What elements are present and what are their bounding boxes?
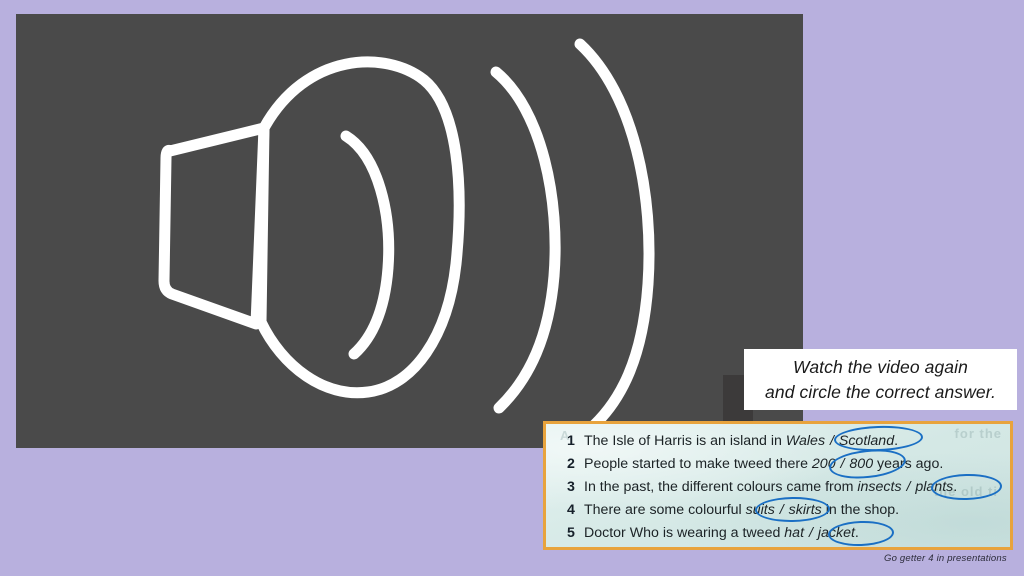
- question-after: in the shop.: [822, 502, 899, 518]
- question-before: The Isle of Harris is an island in: [584, 433, 786, 449]
- question-after: .: [953, 479, 957, 495]
- question-text: There are some colourful suits / skirts …: [584, 502, 899, 518]
- option-b[interactable]: jacket: [818, 525, 855, 541]
- question-after: years ago.: [873, 456, 943, 472]
- option-separator: /: [825, 433, 839, 449]
- worksheet-image: for the the old ti A 1 The Isle of Harri…: [543, 421, 1013, 550]
- question-number: 1: [567, 433, 584, 449]
- option-separator: /: [902, 479, 916, 495]
- question-text: Doctor Who is wearing a tweed hat / jack…: [584, 525, 859, 541]
- option-separator: /: [775, 502, 789, 518]
- question-text: The Isle of Harris is an island in Wales…: [584, 433, 898, 449]
- slide-canvas: Watch the video again and circle the cor…: [0, 0, 1024, 576]
- question-number: 5: [567, 525, 584, 541]
- list-item: 4 There are some colourful suits / skirt…: [546, 502, 1010, 525]
- option-b[interactable]: 800: [849, 456, 873, 472]
- list-item: 1 The Isle of Harris is an island in Wal…: [546, 433, 1010, 456]
- instruction-line-1: Watch the video again: [793, 355, 968, 380]
- option-a[interactable]: 200: [812, 456, 836, 472]
- question-after: .: [855, 525, 859, 541]
- speaker-volume-icon: [16, 14, 803, 448]
- question-before: Doctor Who is wearing a tweed: [584, 525, 784, 541]
- option-separator: /: [804, 525, 818, 541]
- list-item: 3 In the past, the different colours cam…: [546, 479, 1010, 502]
- question-before: People started to make tweed there: [584, 456, 812, 472]
- question-after: .: [894, 433, 898, 449]
- question-before: In the past, the different colours came …: [584, 479, 857, 495]
- question-text: People started to make tweed there 200 /…: [584, 456, 943, 472]
- option-b[interactable]: plants: [915, 479, 953, 495]
- list-item: 5 Doctor Who is wearing a tweed hat / ja…: [546, 525, 1010, 548]
- question-number: 2: [567, 456, 584, 472]
- option-b[interactable]: Scotland: [839, 433, 894, 449]
- video-player[interactable]: [16, 14, 803, 448]
- instruction-line-2: and circle the correct answer.: [765, 380, 996, 405]
- option-separator: /: [836, 456, 850, 472]
- instruction-callout: Watch the video again and circle the cor…: [744, 349, 1017, 410]
- question-before: There are some colourful: [584, 502, 746, 518]
- option-a[interactable]: insects: [857, 479, 901, 495]
- footer-credit: Go getter 4 in presentations: [884, 553, 1007, 564]
- question-text: In the past, the different colours came …: [584, 479, 957, 495]
- option-a[interactable]: hat: [784, 525, 804, 541]
- list-item: 2 People started to make tweed there 200…: [546, 456, 1010, 479]
- question-list: 1 The Isle of Harris is an island in Wal…: [546, 424, 1010, 548]
- option-b[interactable]: skirts: [789, 502, 822, 518]
- option-a[interactable]: suits: [746, 502, 775, 518]
- question-number: 3: [567, 479, 584, 495]
- question-number: 4: [567, 502, 584, 518]
- option-a[interactable]: Wales: [786, 433, 825, 449]
